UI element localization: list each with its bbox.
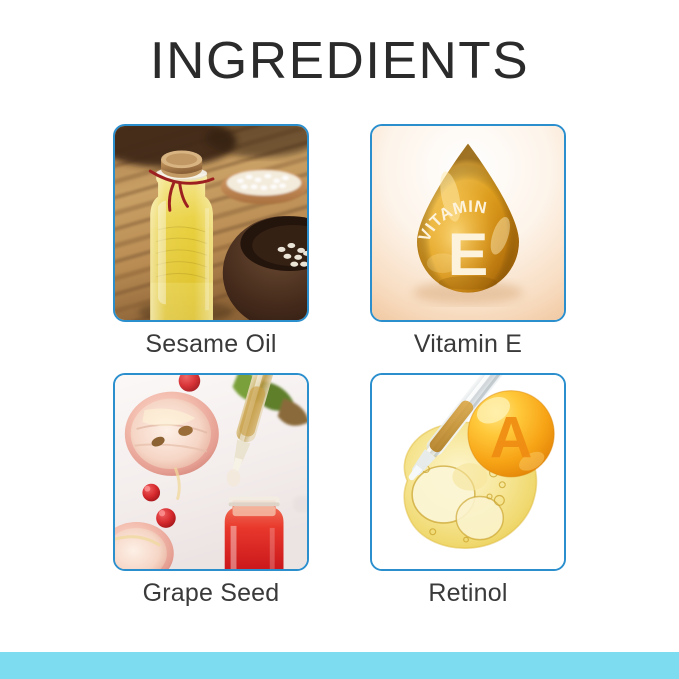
ingredient-card-vitamin-e[interactable]: VITAMIN E Vitamin E xyxy=(370,124,566,362)
ingredient-thumb-sesame-oil[interactable] xyxy=(113,124,309,322)
ingredient-card-sesame-oil[interactable]: Sesame Oil xyxy=(113,124,309,362)
ingredient-label-grape-seed: Grape Seed xyxy=(113,577,309,611)
ingredients-grid: Sesame Oil xyxy=(113,124,566,611)
page-title: INGREDIENTS xyxy=(0,34,679,89)
ingredient-thumb-grape-seed[interactable] xyxy=(113,373,309,571)
ingredient-label-retinol: Retinol xyxy=(370,577,566,611)
ingredients-page: INGREDIENTS xyxy=(0,0,679,679)
ingredient-card-retinol[interactable]: A Retinol xyxy=(370,373,566,611)
ingredient-label-vitamin-e: Vitamin E xyxy=(370,328,566,362)
ingredient-thumb-retinol[interactable]: A xyxy=(370,373,566,571)
svg-text:A: A xyxy=(490,405,532,470)
ingredient-card-grape-seed[interactable]: Grape Seed xyxy=(113,373,309,611)
svg-text:E: E xyxy=(448,220,489,288)
grape-seed-photo xyxy=(115,375,307,569)
sesame-oil-photo xyxy=(115,126,307,320)
bottom-accent-bar xyxy=(0,652,679,679)
ingredient-label-sesame-oil: Sesame Oil xyxy=(113,328,309,362)
retinol-serum-graphic: A xyxy=(372,375,564,569)
vitamin-e-droplet-graphic: VITAMIN E xyxy=(372,126,564,320)
ingredient-thumb-vitamin-e[interactable]: VITAMIN E xyxy=(370,124,566,322)
